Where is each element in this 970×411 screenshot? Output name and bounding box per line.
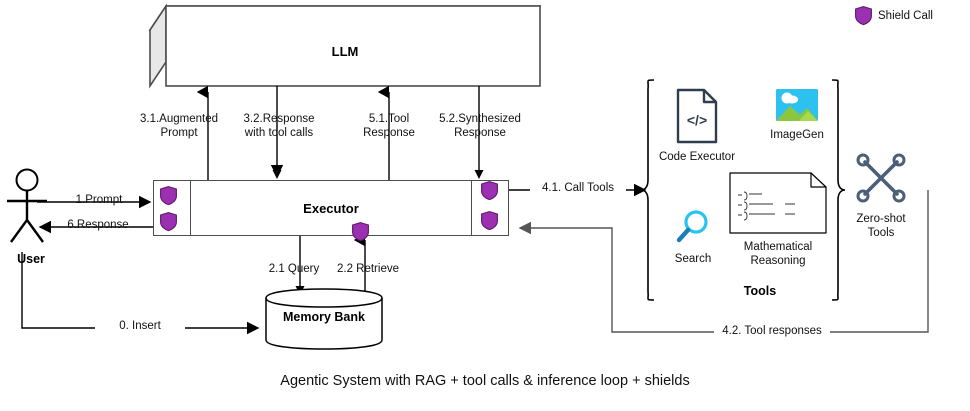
edge-label-tool-response: 5.1.Tool Response xyxy=(350,113,428,140)
code-document-icon: </> xyxy=(675,88,719,144)
edge-label-insert: 0. Insert xyxy=(95,320,185,334)
shield-icon xyxy=(160,212,177,231)
edge-label-augmented-prompt: 3.1.Augmented Prompt xyxy=(139,113,219,140)
diagram-caption: Agentic System with RAG + tool calls & i… xyxy=(0,373,970,389)
executor-node: Executor xyxy=(153,180,509,236)
edge-label-response: 6.Response xyxy=(52,219,144,233)
memory-bank-label: Memory Bank xyxy=(264,310,384,324)
tool-label: Zero-shot Tools xyxy=(845,213,917,240)
edge-label-query: 2.1 Query xyxy=(259,263,329,277)
edge-label-response-with-tool-calls: 3.2.Response with tool calls xyxy=(233,113,325,140)
edge-label-call-tools: 4.1. Call Tools xyxy=(530,182,626,196)
shield-icon xyxy=(160,186,177,205)
user-label: User xyxy=(0,252,62,266)
magnifier-icon xyxy=(674,208,712,246)
shield-icon xyxy=(352,222,369,241)
legend: Shield Call xyxy=(855,6,933,25)
tools-panel-title: Tools xyxy=(700,284,820,298)
tool-code-executor[interactable]: </> Code Executor xyxy=(652,88,742,165)
edge-label-prompt: 1.Prompt xyxy=(58,194,140,208)
tool-math-reasoning[interactable]: Mathematical Reasoning xyxy=(726,172,830,268)
edge-label-tool-responses: 4.2. Tool responses xyxy=(714,325,830,339)
tool-label: Code Executor xyxy=(652,151,742,165)
legend-label: Shield Call xyxy=(878,10,933,22)
shield-icon xyxy=(855,6,872,25)
formula-document-icon xyxy=(729,172,827,234)
tool-label: Mathematical Reasoning xyxy=(726,241,830,268)
edge-label-retrieve: 2.2 Retrieve xyxy=(331,263,405,277)
edge-label-synthesized-response: 5.2.Synthesized Response xyxy=(432,113,528,140)
shield-icon xyxy=(481,181,498,200)
tool-label: Search xyxy=(658,253,728,267)
crossed-wrenches-icon xyxy=(853,150,909,206)
tool-zero-shot[interactable]: Zero-shot Tools xyxy=(845,150,917,240)
tool-label: ImageGen xyxy=(757,129,837,143)
image-icon xyxy=(775,88,819,122)
shield-icon xyxy=(481,211,498,230)
user-actor xyxy=(5,168,65,246)
tool-imagegen[interactable]: ImageGen xyxy=(757,88,837,143)
svg-text:</>: </> xyxy=(687,112,707,128)
executor-label: Executor xyxy=(154,181,508,235)
tool-search[interactable]: Search xyxy=(658,208,728,267)
